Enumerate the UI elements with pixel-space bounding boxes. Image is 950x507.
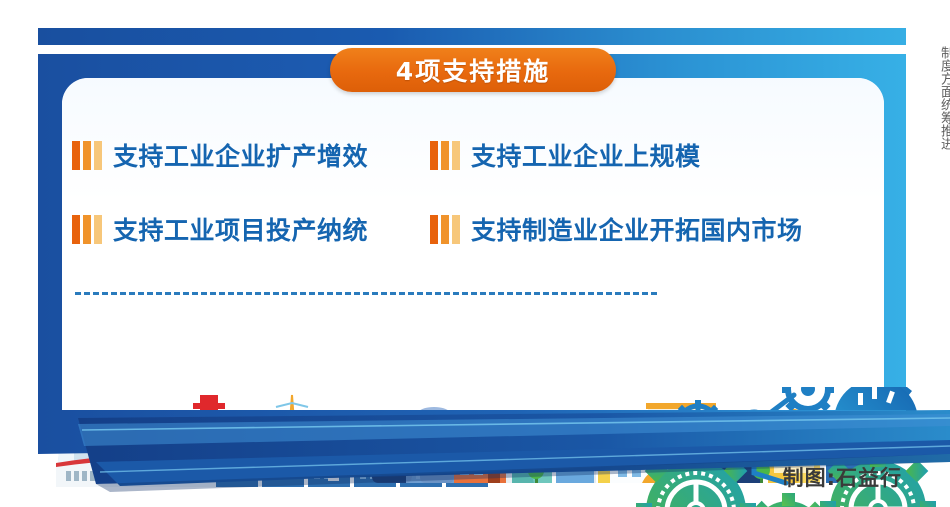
measure-item-3: 支持工业项目投产纳统 (72, 211, 430, 247)
dashed-divider (75, 292, 657, 295)
measure-label-3: 支持工业项目投产纳统 (113, 211, 368, 247)
bullet-bars-icon (72, 141, 102, 170)
credit-label: 制图:石益行 (783, 462, 902, 492)
side-fragment-text: 制度方面统筹推进 (936, 46, 950, 150)
page-title: 4项支持措施 (396, 52, 550, 88)
bottom-ribbon (0, 410, 950, 507)
measure-item-2: 支持工业企业上规模 (430, 137, 872, 173)
measure-label-2: 支持工业企业上规模 (471, 137, 701, 173)
bullet-bars-icon (430, 215, 460, 244)
measures-row-1: 支持工业企业扩产增效 支持工业企业上规模 (72, 118, 872, 192)
measure-label-1: 支持工业企业扩产增效 (113, 137, 368, 173)
measures-row-2: 支持工业项目投产纳统 支持制造业企业开拓国内市场 (72, 192, 872, 266)
top-accent-bar (38, 28, 906, 45)
measure-label-4: 支持制造业企业开拓国内市场 (471, 211, 803, 247)
infographic-canvas: 4项支持措施 支持工业企业扩产增效 支持工业企业上规模 (0, 0, 950, 507)
measure-item-4: 支持制造业企业开拓国内市场 (430, 211, 872, 247)
bullet-bars-icon (430, 141, 460, 170)
bullet-bars-icon (72, 215, 102, 244)
title-badge: 4项支持措施 (330, 48, 616, 92)
measure-item-1: 支持工业企业扩产增效 (72, 137, 430, 173)
measures-list: 支持工业企业扩产增效 支持工业企业上规模 支持工业项目投产纳统 支持制造 (72, 118, 872, 266)
